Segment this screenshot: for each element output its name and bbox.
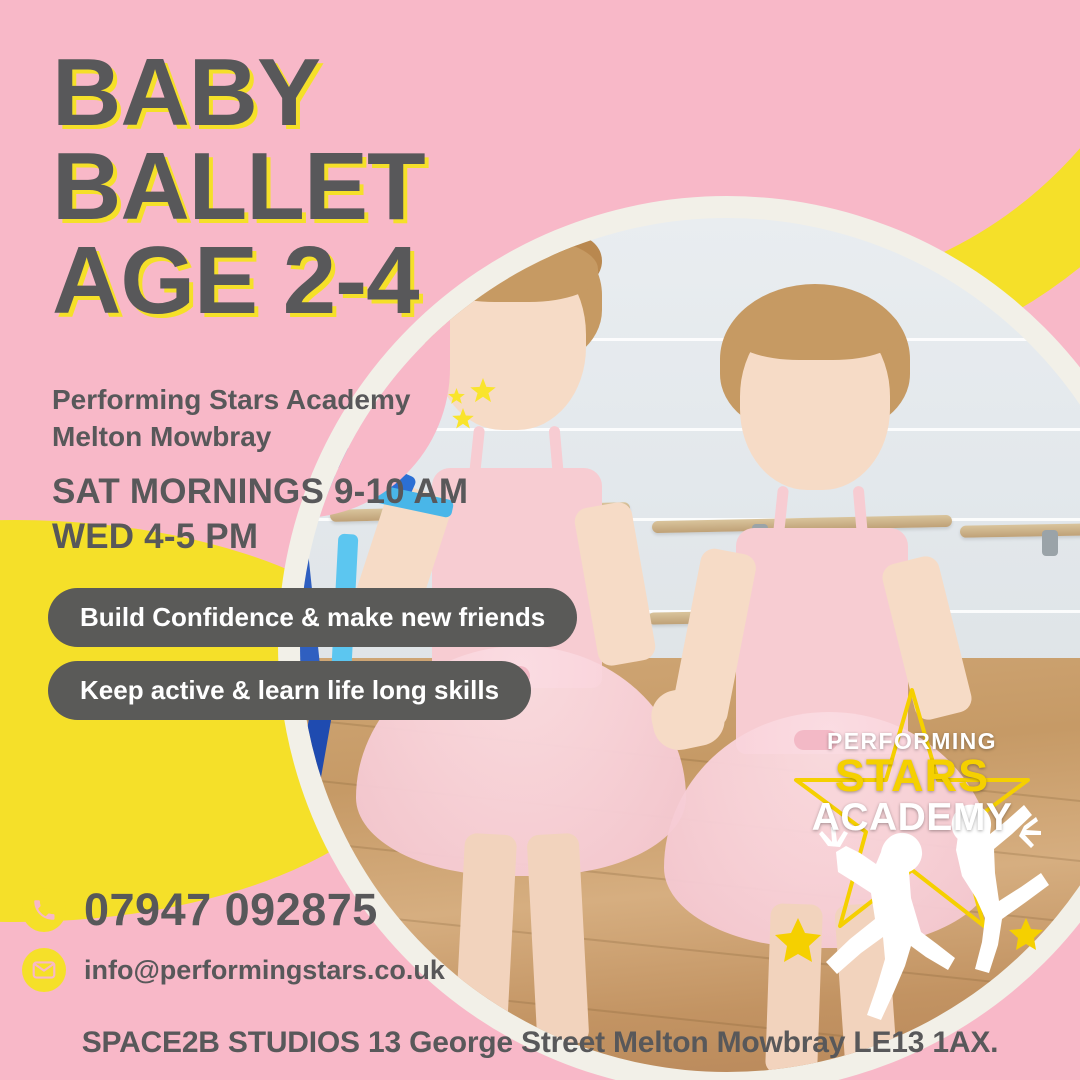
logo-line-academy: ACADEMY (762, 796, 1062, 840)
academy-logo: PERFORMING STARS ACADEMY (762, 676, 1062, 1021)
class-time-wednesday: WED 4-5 PM (52, 515, 612, 560)
contact-row-email[interactable]: info@performingstars.co.uk (22, 948, 445, 992)
contact-row-phone[interactable]: 07947 092875 (22, 884, 445, 936)
contact-block: 07947 092875 info@performingstars.co.uk (22, 884, 445, 1004)
headline-line-3: AGE 2-4 (52, 234, 612, 328)
phone-number: 07947 092875 (84, 884, 378, 936)
arc-mask-right (742, 0, 1080, 70)
envelope-icon (22, 948, 66, 992)
phone-icon (22, 888, 66, 932)
benefit-pill: Build Confidence & make new friends (48, 588, 577, 647)
headline-line-1: BABY (52, 46, 612, 140)
email-address: info@performingstars.co.uk (84, 955, 445, 986)
academy-block: Performing Stars Academy Melton Mowbray (52, 382, 612, 456)
studio-address: SPACE2B STUDIOS 13 George Street Melton … (0, 1026, 1080, 1060)
class-times: SAT MORNINGS 9-10 AM WED 4-5 PM (52, 470, 612, 560)
academy-name: Performing Stars Academy (52, 382, 612, 419)
logo-line-stars: STARS (762, 750, 1062, 802)
academy-location: Melton Mowbray (52, 419, 612, 456)
benefit-pill: Keep active & learn life long skills (48, 661, 531, 720)
poster-canvas: BABY BALLET AGE 2-4 Performing Stars Aca… (0, 0, 1080, 1080)
benefits-list: Build Confidence & make new friends Keep… (48, 588, 577, 734)
headline-line-2: BALLET (52, 140, 612, 234)
page-title: BABY BALLET AGE 2-4 (52, 46, 612, 328)
sparkle-stars-icon (448, 378, 508, 432)
class-time-saturday: SAT MORNINGS 9-10 AM (52, 470, 612, 515)
